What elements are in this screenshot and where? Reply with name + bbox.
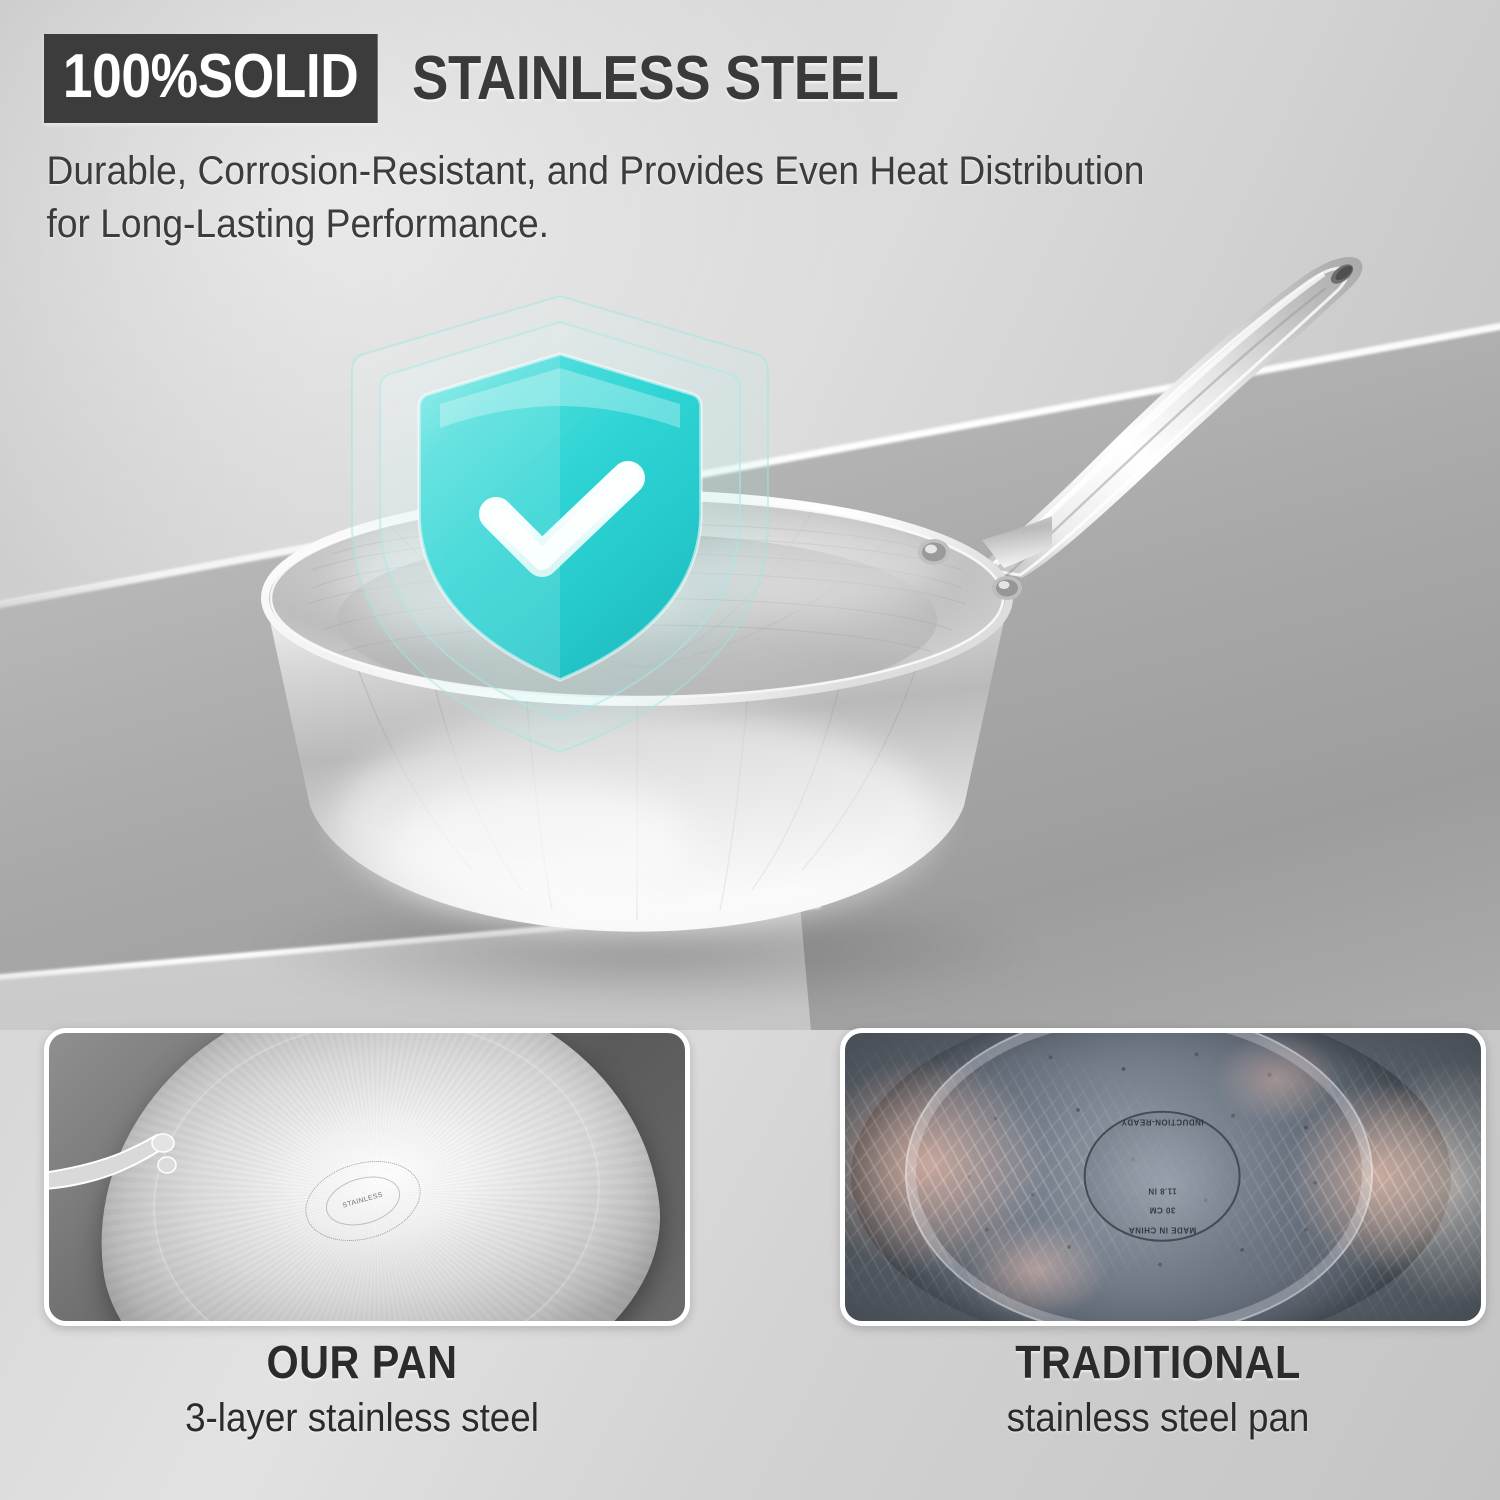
disc-text-size-in: 11.8 IN	[1147, 1186, 1176, 1195]
verified-shield-icon	[340, 288, 780, 768]
caption-traditional-title: TRADITIONAL	[872, 1338, 1444, 1388]
subtitle-line-1: Durable, Corrosion-Resistant, and Provid…	[47, 145, 1377, 198]
caption-traditional-subtitle: stainless steel pan	[865, 1396, 1450, 1441]
clean-pan-handle	[49, 1129, 193, 1195]
disc-text-made-in: MADE IN CHINA	[1128, 1225, 1196, 1234]
caption-traditional: TRADITIONAL stainless steel pan	[840, 1338, 1476, 1440]
comparison-panel-traditional[interactable]: MADE IN CHINA 30 CM 11.8 IN INDUCTION-RE…	[840, 1028, 1486, 1326]
disc-text-size-cm: 30 CM	[1149, 1205, 1175, 1214]
page-title: STAINLESS STEEL	[412, 48, 899, 110]
caption-our-pan-subtitle: 3-layer stainless steel	[69, 1396, 654, 1441]
product-infographic: 100%SOLID STAINLESS STEEL Durable, Corro…	[0, 0, 1500, 1500]
stamp-text: STAINLESS	[320, 1168, 406, 1233]
header: 100%SOLID STAINLESS STEEL Durable, Corro…	[0, 0, 1500, 251]
subtitle-line-2: for Long-Lasting Performance.	[47, 198, 1377, 251]
comparison-captions: OUR PAN 3-layer stainless steel TRADITIO…	[0, 1338, 1500, 1498]
stamped-info-disc: MADE IN CHINA 30 CM 11.8 IN INDUCTION-RE…	[1084, 1111, 1241, 1242]
caption-our-pan: OUR PAN 3-layer stainless steel	[44, 1338, 680, 1440]
comparison-panel-our-pan[interactable]: STAINLESS	[44, 1028, 690, 1326]
title-row: 100%SOLID STAINLESS STEEL	[0, 0, 1500, 123]
subtitle: Durable, Corrosion-Resistant, and Provid…	[0, 123, 1376, 251]
solid-badge: 100%SOLID	[44, 34, 377, 123]
caption-our-pan-title: OUR PAN	[76, 1338, 648, 1388]
disc-text-induction: INDUCTION-READY	[1121, 1118, 1204, 1127]
